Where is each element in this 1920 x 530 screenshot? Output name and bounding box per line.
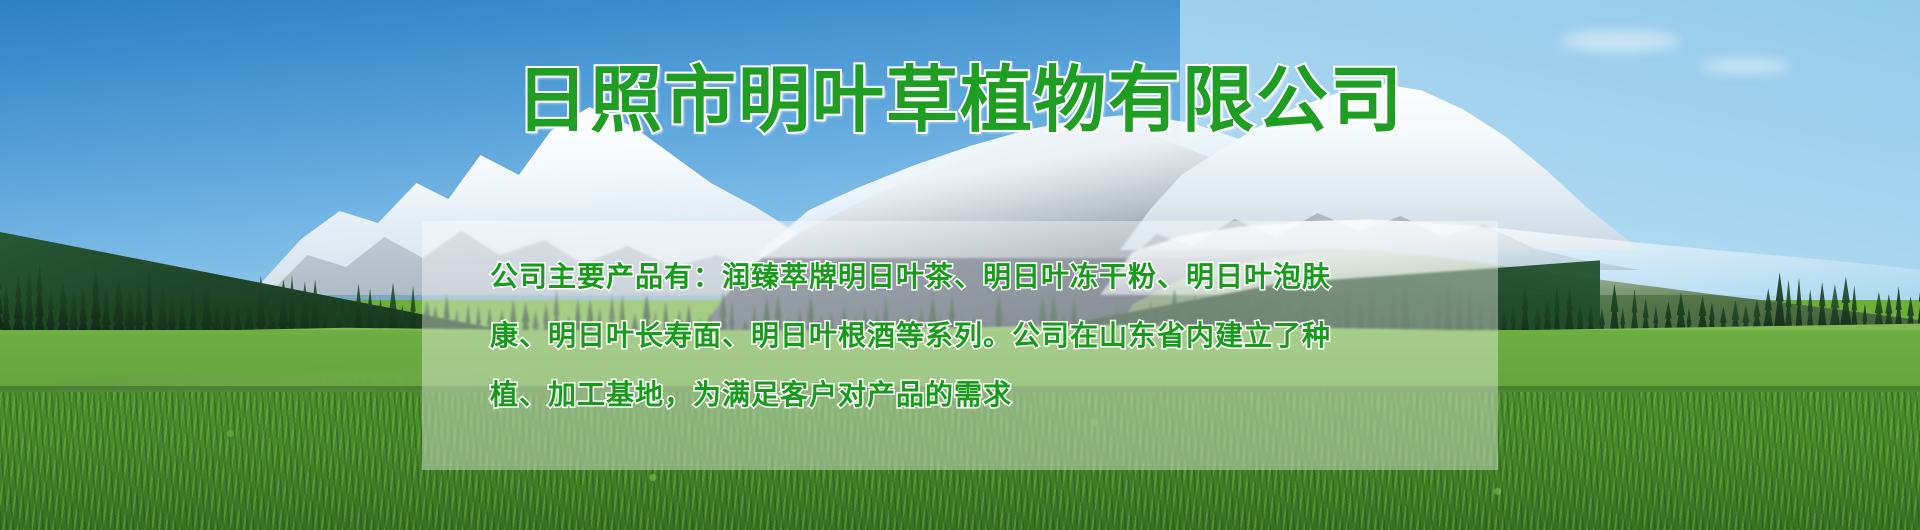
conifer-tree-icon [56, 281, 70, 334]
company-banner: 日照市明叶草植物有限公司 公司主要产品有：润臻萃牌明日叶茶、明日叶冻干粉、明日叶… [0, 0, 1920, 530]
conifer-tree-icon [144, 268, 154, 336]
cloud-icon [1560, 30, 1680, 52]
company-title: 日照市明叶草植物有限公司 [0, 62, 1920, 141]
description-line: 康、明日叶长寿面、明日叶根酒等系列。公司在山东省内建立了种 [490, 306, 1450, 365]
conifer-tree-icon [23, 267, 35, 336]
conifer-tree-icon [111, 276, 126, 334]
description-text: 公司主要产品有：润臻萃牌明日叶茶、明日叶冻干粉、明日叶泡肤 康、明日叶长寿面、明… [490, 247, 1450, 424]
description-line: 植、加工基地，为满足客户对产品的需求 [490, 365, 1450, 424]
conifer-tree-icon [133, 282, 145, 337]
conifer-tree-icon [12, 274, 25, 332]
conifer-tree-icon [100, 282, 112, 337]
conifer-tree-icon [89, 266, 103, 335]
conifer-tree-icon [34, 261, 45, 332]
conifer-tree-icon [78, 285, 88, 331]
description-line: 公司主要产品有：润臻萃牌明日叶茶、明日叶冻干粉、明日叶泡肤 [490, 247, 1450, 306]
